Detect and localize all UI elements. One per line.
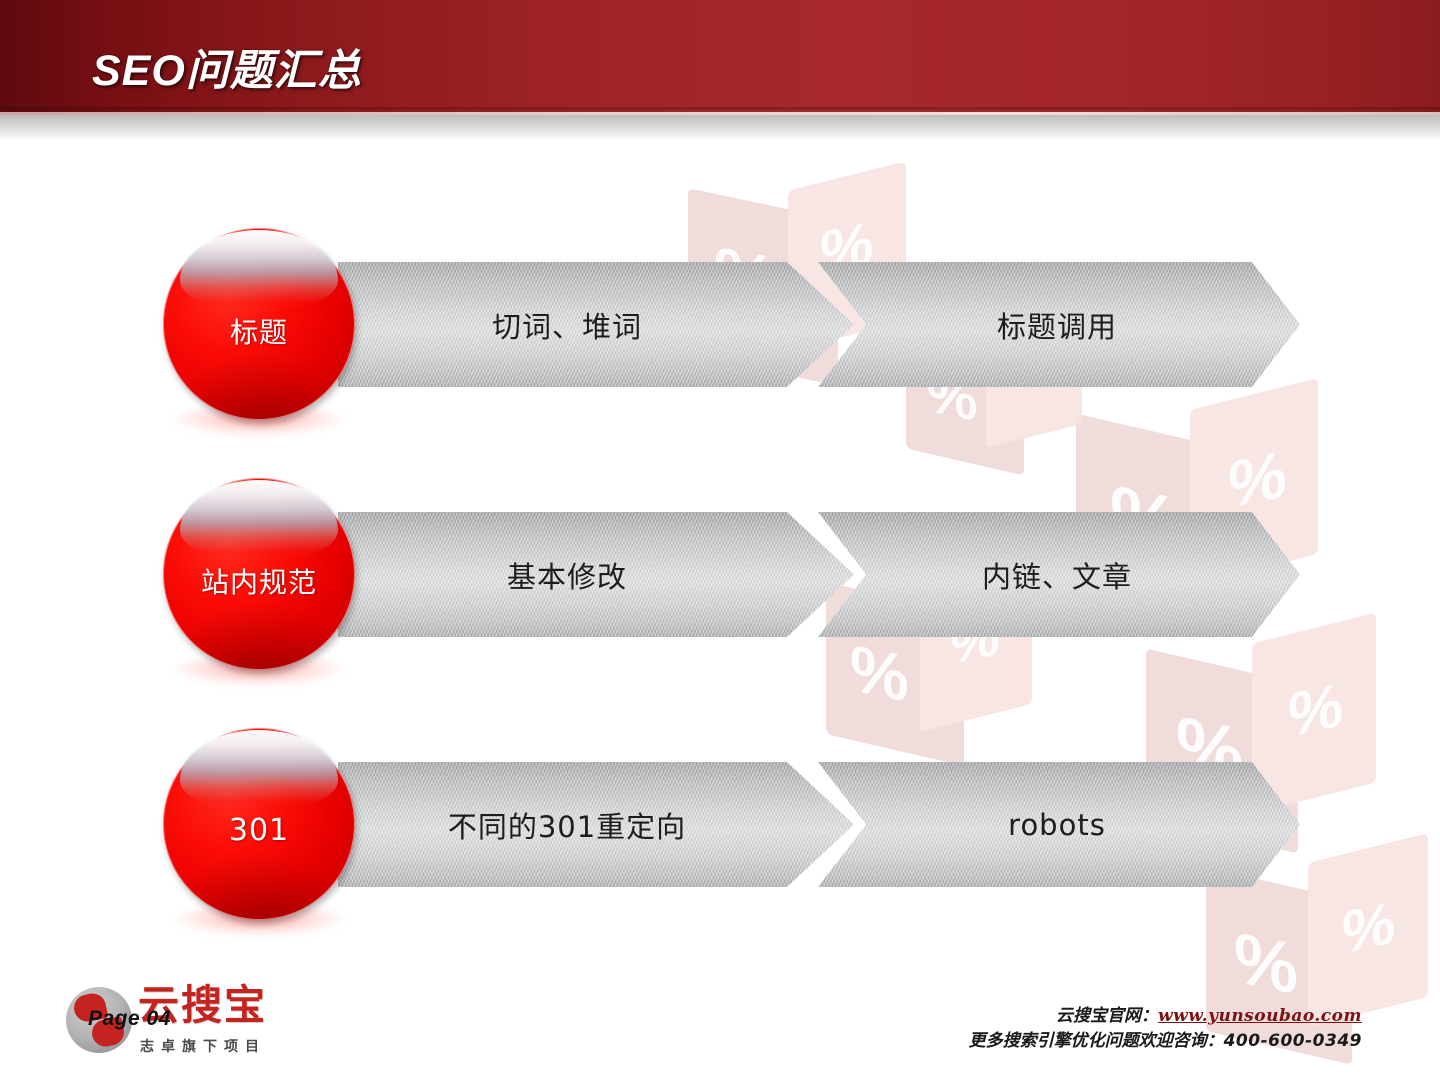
process-step-chevron[interactable]: 基本修改 (338, 512, 854, 637)
footer-contact-block: 云搜宝官网：www.yunsoubao.com 更多搜索引擎优化问题欢迎咨询：4… (969, 1004, 1362, 1053)
brand-tagline: 志卓旗下项目 (140, 1036, 266, 1056)
category-sphere-label: 站内规范 (163, 478, 355, 670)
process-step-label: 内链、文章 (818, 512, 1300, 637)
category-sphere[interactable]: 标题 (163, 228, 355, 420)
process-step-label: 切词、堆词 (338, 262, 854, 387)
footer-website-label: 云搜宝官网： (1056, 1006, 1158, 1026)
footer-consult-line: 更多搜索引擎优化问题欢迎咨询：400-600-0349 (969, 1029, 1362, 1054)
footer-phone: 400-600-0349 (1224, 1031, 1362, 1051)
process-row: 切词、堆词 标题调用 标题 (0, 200, 1440, 450)
process-step-chevron[interactable]: 切词、堆词 (338, 262, 854, 387)
header-glass-strip (0, 115, 1440, 141)
process-row: 基本修改 内链、文章 站内规范 (0, 450, 1440, 700)
footer-website-url[interactable]: www.yunsoubao.com (1158, 1006, 1362, 1026)
process-step-chevron[interactable]: robots (818, 762, 1300, 887)
category-sphere[interactable]: 站内规范 (163, 478, 355, 670)
page-title: SEO问题汇总 (92, 36, 362, 98)
process-step-chevron[interactable]: 内链、文章 (818, 512, 1300, 637)
footer-consult-label: 更多搜索引擎优化问题欢迎咨询： (969, 1031, 1224, 1051)
process-step-label: 不同的301重定向 (338, 762, 854, 887)
page-number: Page 04 (88, 1007, 171, 1031)
category-sphere-label: 301 (163, 728, 355, 920)
category-sphere[interactable]: 301 (163, 728, 355, 920)
slide-canvas: % % % % % % % % % % (0, 0, 1440, 1080)
footer-website-line: 云搜宝官网：www.yunsoubao.com (969, 1004, 1362, 1029)
process-step-chevron[interactable]: 标题调用 (818, 262, 1300, 387)
process-step-label: robots (818, 762, 1300, 887)
process-row: 不同的301重定向 robots 301 (0, 700, 1440, 950)
category-sphere-label: 标题 (163, 228, 355, 420)
process-step-label: 标题调用 (818, 262, 1300, 387)
process-step-label: 基本修改 (338, 512, 854, 637)
process-step-chevron[interactable]: 不同的301重定向 (338, 762, 854, 887)
process-diagram: 切词、堆词 标题调用 标题 基本修改 内链、文章 (0, 0, 1440, 1080)
